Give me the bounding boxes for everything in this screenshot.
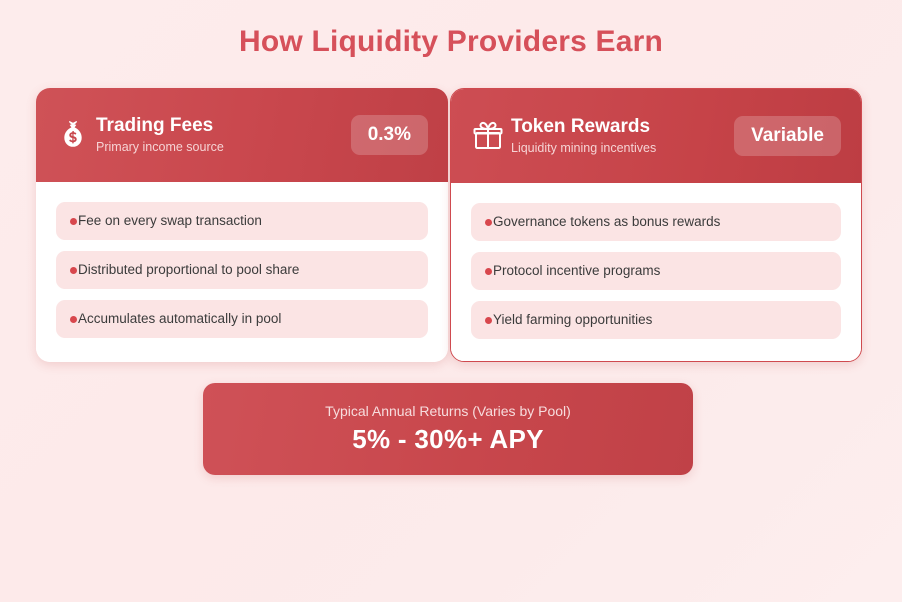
money-bag-icon <box>56 118 90 152</box>
list-item-label: Distributed proportional to pool share <box>78 261 299 279</box>
list-item-label: Fee on every swap transaction <box>78 212 262 230</box>
card-subtitle: Liquidity mining incentives <box>511 140 734 157</box>
card-token-rewards: Token Rewards Liquidity mining incentive… <box>450 88 862 362</box>
card-header-token-rewards: Token Rewards Liquidity mining incentive… <box>451 89 861 183</box>
list-item: Fee on every swap transaction <box>56 202 428 240</box>
list-item-label: Accumulates automatically in pool <box>78 310 281 328</box>
list-item-label: Governance tokens as bonus rewards <box>493 213 720 231</box>
list-item: Governance tokens as bonus rewards <box>471 203 841 241</box>
summary-value: 5% - 30%+ APY <box>352 423 544 456</box>
bullet-dot-icon <box>485 268 492 275</box>
list-item: Distributed proportional to pool share <box>56 251 428 289</box>
bullet-dot-icon <box>485 317 492 324</box>
card-badge-reward-rate: Variable <box>734 116 841 156</box>
summary-banner: Typical Annual Returns (Varies by Pool) … <box>203 383 693 475</box>
card-trading-fees: Trading Fees Primary income source 0.3% … <box>36 88 448 362</box>
bullet-dot-icon <box>70 218 77 225</box>
earnings-cards-row: Trading Fees Primary income source 0.3% … <box>36 88 862 362</box>
page-title: How Liquidity Providers Earn <box>0 0 902 60</box>
bullet-dot-icon <box>70 316 77 323</box>
card-badge-fee-rate: 0.3% <box>351 115 428 155</box>
card-header-text-token-rewards: Token Rewards Liquidity mining incentive… <box>511 115 734 157</box>
list-item: Protocol incentive programs <box>471 252 841 290</box>
infographic-page: How Liquidity Providers Earn Trading Fee… <box>0 0 902 602</box>
card-header-trading-fees: Trading Fees Primary income source 0.3% <box>36 88 448 182</box>
card-body-token-rewards: Governance tokens as bonus rewards Proto… <box>451 183 861 361</box>
list-item: Accumulates automatically in pool <box>56 300 428 338</box>
bullet-dot-icon <box>485 219 492 226</box>
card-subtitle: Primary income source <box>96 139 351 156</box>
summary-label: Typical Annual Returns (Varies by Pool) <box>325 402 571 420</box>
bullet-dot-icon <box>70 267 77 274</box>
card-title: Trading Fees <box>96 114 351 138</box>
card-title: Token Rewards <box>511 115 734 139</box>
card-header-text-trading-fees: Trading Fees Primary income source <box>96 114 351 156</box>
gift-icon <box>471 119 505 153</box>
list-item-label: Yield farming opportunities <box>493 311 652 329</box>
list-item-label: Protocol incentive programs <box>493 262 660 280</box>
list-item: Yield farming opportunities <box>471 301 841 339</box>
card-body-trading-fees: Fee on every swap transaction Distribute… <box>36 182 448 362</box>
